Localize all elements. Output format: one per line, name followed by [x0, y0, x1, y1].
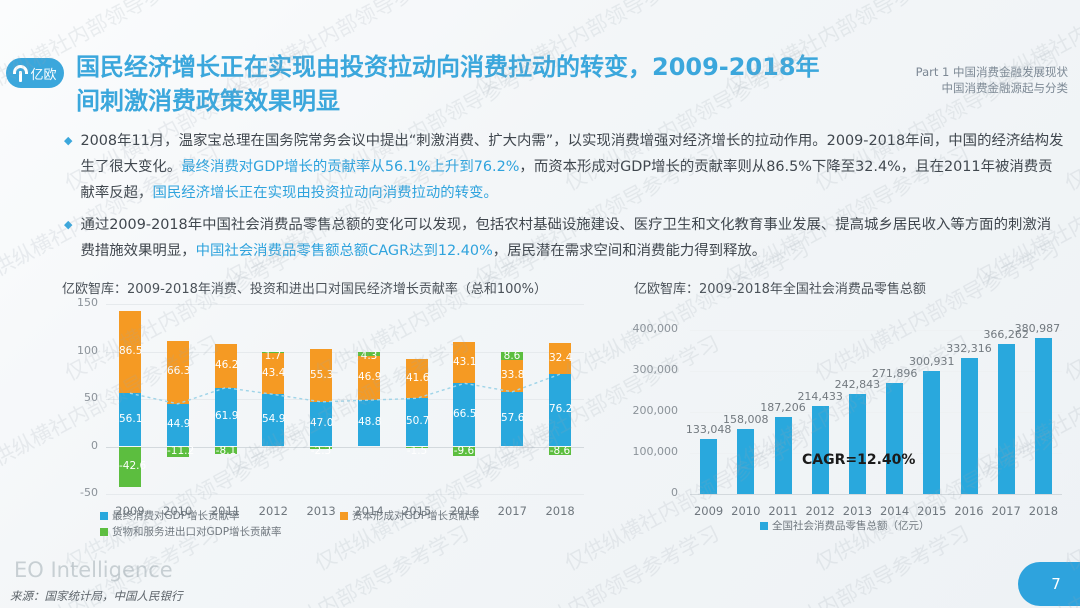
bar-retail-total	[849, 394, 866, 494]
bar-value-label-netexport: -1.5	[406, 445, 428, 457]
y-axis-tick-label: 150	[62, 296, 98, 309]
legend-label: 全国社会消费品零售总额（亿元）	[772, 518, 930, 533]
right-chart-bar: 0100,000200,000300,000400,000133,0482009…	[620, 296, 1072, 546]
bar-value-label: 380,987	[1003, 322, 1071, 335]
slide-header: 亿欧 国民经济增长正在实现由投资拉动向消费拉动的转变，2009-2018年间刺激…	[0, 26, 1080, 100]
bar-value-label-capital: 86.5	[119, 345, 141, 357]
bar-retail-total	[886, 383, 903, 494]
bar-value-label: 332,316	[935, 342, 1003, 355]
y-axis-tick-label: 50	[62, 391, 98, 404]
eo-intelligence-watermark: EO Intelligence	[14, 558, 173, 582]
bar-value-label-capital: 55.3	[310, 369, 332, 381]
bullet-item: ◆ 2008年11月，温家宝总理在国务院常务会议中提出“刺激消费、扩大内需”，以…	[64, 128, 1064, 206]
cagr-annotation: CAGR=12.40%	[802, 452, 915, 468]
bar-value-label-netexport: -11.2	[167, 445, 189, 457]
bar-value-label: 242,843	[823, 378, 891, 391]
bar-value-label-capital: 32.4	[549, 352, 571, 364]
yiou-y-icon	[13, 65, 28, 82]
section-breadcrumb: Part 1 中国消费金融发展现状 中国消费金融源起与分类	[916, 64, 1068, 96]
legend-swatch	[760, 522, 768, 530]
bar-value-label-consumption: 54.9	[262, 413, 284, 425]
bar-retail-total	[737, 429, 754, 494]
bar-retail-total	[700, 439, 717, 494]
x-axis-tick-label: 2017	[486, 504, 538, 518]
section-breadcrumb-line2: 中国消费金融源起与分类	[916, 80, 1068, 96]
bar-value-label-consumption: 76.2	[549, 403, 571, 415]
bar-value-label-capital: 33.8	[501, 369, 523, 381]
legend-label: 货物和服务进出口对GDP增长贡献率	[112, 524, 282, 539]
bullet-text: 通过2009-2018年中国社会消费品零售总额的变化可以发现，包括农村基础设施建…	[80, 212, 1064, 264]
chart-legend-item: 资本形成对GDP增长贡献率	[340, 508, 480, 523]
chart-legend-item: 全国社会消费品零售总额（亿元）	[760, 518, 930, 533]
page-number-badge: 7	[1018, 562, 1080, 606]
diamond-bullet-icon: ◆	[64, 212, 72, 264]
y-axis-tick-label: 400,000	[620, 322, 678, 335]
bar-value-label-netexport: -8.6	[549, 445, 571, 457]
diamond-bullet-icon: ◆	[64, 128, 72, 206]
legend-swatch	[100, 512, 108, 520]
chart-legend-item: 最终消费对GDP增长贡献率	[100, 508, 240, 523]
chart-legend-item: 货物和服务进出口对GDP增长贡献率	[100, 524, 282, 539]
bar-value-label-netexport: 8.6	[501, 350, 523, 362]
bullet-highlight: 中国社会消费品零售额总额CAGR达到12.40%	[196, 243, 493, 259]
bar-value-label-consumption: 50.7	[406, 415, 428, 427]
brand-logo: 亿欧	[6, 58, 64, 88]
bar-retail-total	[998, 344, 1015, 494]
bar-value-label-netexport: -42.6	[119, 460, 141, 472]
legend-label: 最终消费对GDP增长贡献率	[112, 508, 240, 523]
bar-value-label-consumption: 47.0	[310, 417, 332, 429]
y-axis-tick-label: -50	[62, 486, 98, 499]
bar-value-label: 158,008	[712, 413, 780, 426]
bar-value-label-capital: 46.9	[358, 371, 380, 383]
y-gridline	[106, 494, 584, 495]
bar-value-label-consumption: 61.9	[215, 410, 237, 422]
brand-logo-text: 亿欧	[30, 64, 56, 83]
bar-value-label-consumption: 56.1	[119, 413, 141, 425]
bullet-text: 2008年11月，温家宝总理在国务院常务会议中提出“刺激消费、扩大内需”，以实现…	[80, 128, 1064, 206]
x-axis-tick-label: 2018	[1021, 504, 1065, 518]
y-axis-tick-label: 100	[62, 344, 98, 357]
bar-value-label-consumption: 66.5	[453, 408, 475, 420]
bar-value-label: 214,433	[786, 390, 854, 403]
bar-value-label-capital: 66.3	[167, 365, 189, 377]
bar-retail-total	[923, 371, 940, 494]
bar-retail-total	[812, 406, 829, 494]
y-axis-tick-label: 0	[62, 439, 98, 452]
y-axis-tick-label: 0	[620, 486, 678, 499]
bar-retail-total	[961, 358, 978, 494]
left-chart-title: 亿欧智库：2009-2018年消费、投资和进出口对国民经济增长贡献率（总和100…	[62, 278, 547, 297]
bar-retail-total	[775, 417, 792, 494]
y-axis-tick-label: 200,000	[620, 404, 678, 417]
bullet-highlight: 国民经济增长正在实现由投资拉动向消费拉动的转变。	[152, 185, 497, 201]
bar-value-label-capital: 41.6	[406, 372, 428, 384]
bar-value-label-netexport: 4.3	[358, 350, 380, 362]
bar-value-label-netexport: -2.3	[310, 445, 332, 457]
bar-value-label-netexport: 1.7	[262, 350, 284, 362]
bullet-item: ◆ 通过2009-2018年中国社会消费品零售总额的变化可以发现，包括农村基础设…	[64, 212, 1064, 264]
left-chart-stacked-bar: -5005010015056.186.5-42.6200944.966.3-11…	[62, 296, 602, 546]
bar-value-label-capital: 43.1	[453, 356, 475, 368]
legend-label: 资本形成对GDP增长贡献率	[352, 508, 480, 523]
y-gridline	[690, 494, 1062, 495]
bar-value-label: 187,206	[749, 401, 817, 414]
y-axis-tick-label: 100,000	[620, 445, 678, 458]
bar-value-label-consumption: 48.8	[358, 416, 380, 428]
y-axis-tick-label: 300,000	[620, 363, 678, 376]
legend-swatch	[100, 528, 108, 536]
section-breadcrumb-line1: Part 1 中国消费金融发展现状	[916, 64, 1068, 80]
body-bullets: ◆ 2008年11月，温家宝总理在国务院常务会议中提出“刺激消费、扩大内需”，以…	[64, 128, 1064, 270]
bar-value-label-netexport: -8.1	[215, 445, 237, 457]
right-chart-title: 亿欧智库：2009-2018年全国社会消费品零售总额	[634, 278, 926, 297]
bullet-text-seg: ，居民潜在需求空间和消费能力得到释放。	[493, 243, 766, 259]
y-gridline	[106, 304, 584, 305]
x-axis-tick-label: 2012	[247, 504, 299, 518]
bar-value-label-capital: 43.4	[262, 367, 284, 379]
bar-value-label: 300,931	[898, 355, 966, 368]
bar-retail-total	[1035, 338, 1052, 494]
bar-value-label-capital: 46.2	[215, 359, 237, 371]
source-note: 来源：国家统计局，中国人民银行	[10, 588, 183, 604]
bar-value-label: 271,896	[861, 367, 929, 380]
bar-value-label-netexport: -9.6	[453, 445, 475, 457]
page-title: 国民经济增长正在实现由投资拉动向消费拉动的转变，2009-2018年间刺激消费政…	[76, 50, 836, 118]
bar-value-label-consumption: 44.9	[167, 418, 189, 430]
legend-swatch	[340, 512, 348, 520]
bar-value-label-consumption: 57.6	[501, 412, 523, 424]
x-axis-tick-label: 2018	[534, 504, 586, 518]
bullet-highlight: 最终消费对GDP增长的贡献率从56.1%上升到76.2%	[181, 159, 519, 175]
